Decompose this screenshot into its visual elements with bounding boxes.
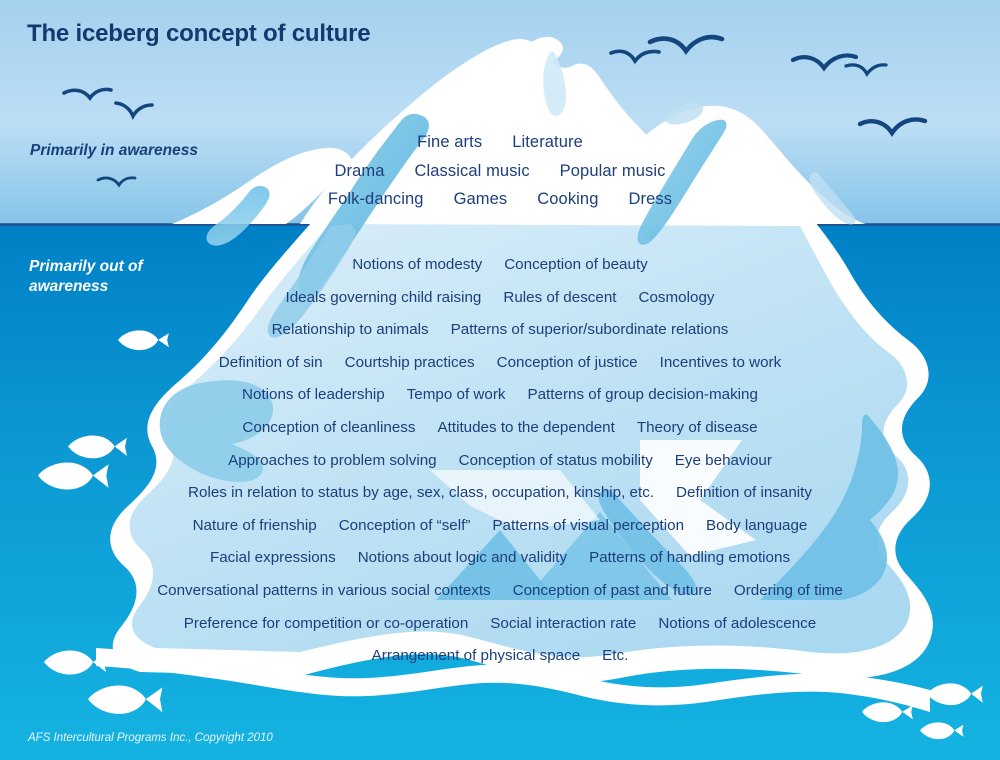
fish-icon xyxy=(862,702,913,722)
label-primarily-in-awareness: Primarily in awareness xyxy=(30,142,198,160)
fish-icon xyxy=(88,686,162,714)
fish-icon xyxy=(920,722,963,739)
copyright-credit: AFS Intercultural Programs Inc., Copyrig… xyxy=(28,732,273,744)
iceberg-culture-diagram: The iceberg concept of culture Primarily… xyxy=(0,0,1000,760)
fish-icon xyxy=(927,683,983,705)
label-primarily-out-of-awareness: Primarily out of awareness xyxy=(29,257,204,297)
fish-layer xyxy=(0,0,1000,760)
page-title: The iceberg concept of culture xyxy=(27,20,370,48)
label-unaware-line2: awareness xyxy=(29,278,108,295)
label-unaware-line1: Primarily out of xyxy=(29,258,143,275)
fish-icon xyxy=(118,330,169,350)
fish-icon xyxy=(38,463,109,490)
scene: The iceberg concept of culture Primarily… xyxy=(0,0,1000,760)
fish-icon xyxy=(68,435,127,458)
fish-icon xyxy=(44,650,106,674)
